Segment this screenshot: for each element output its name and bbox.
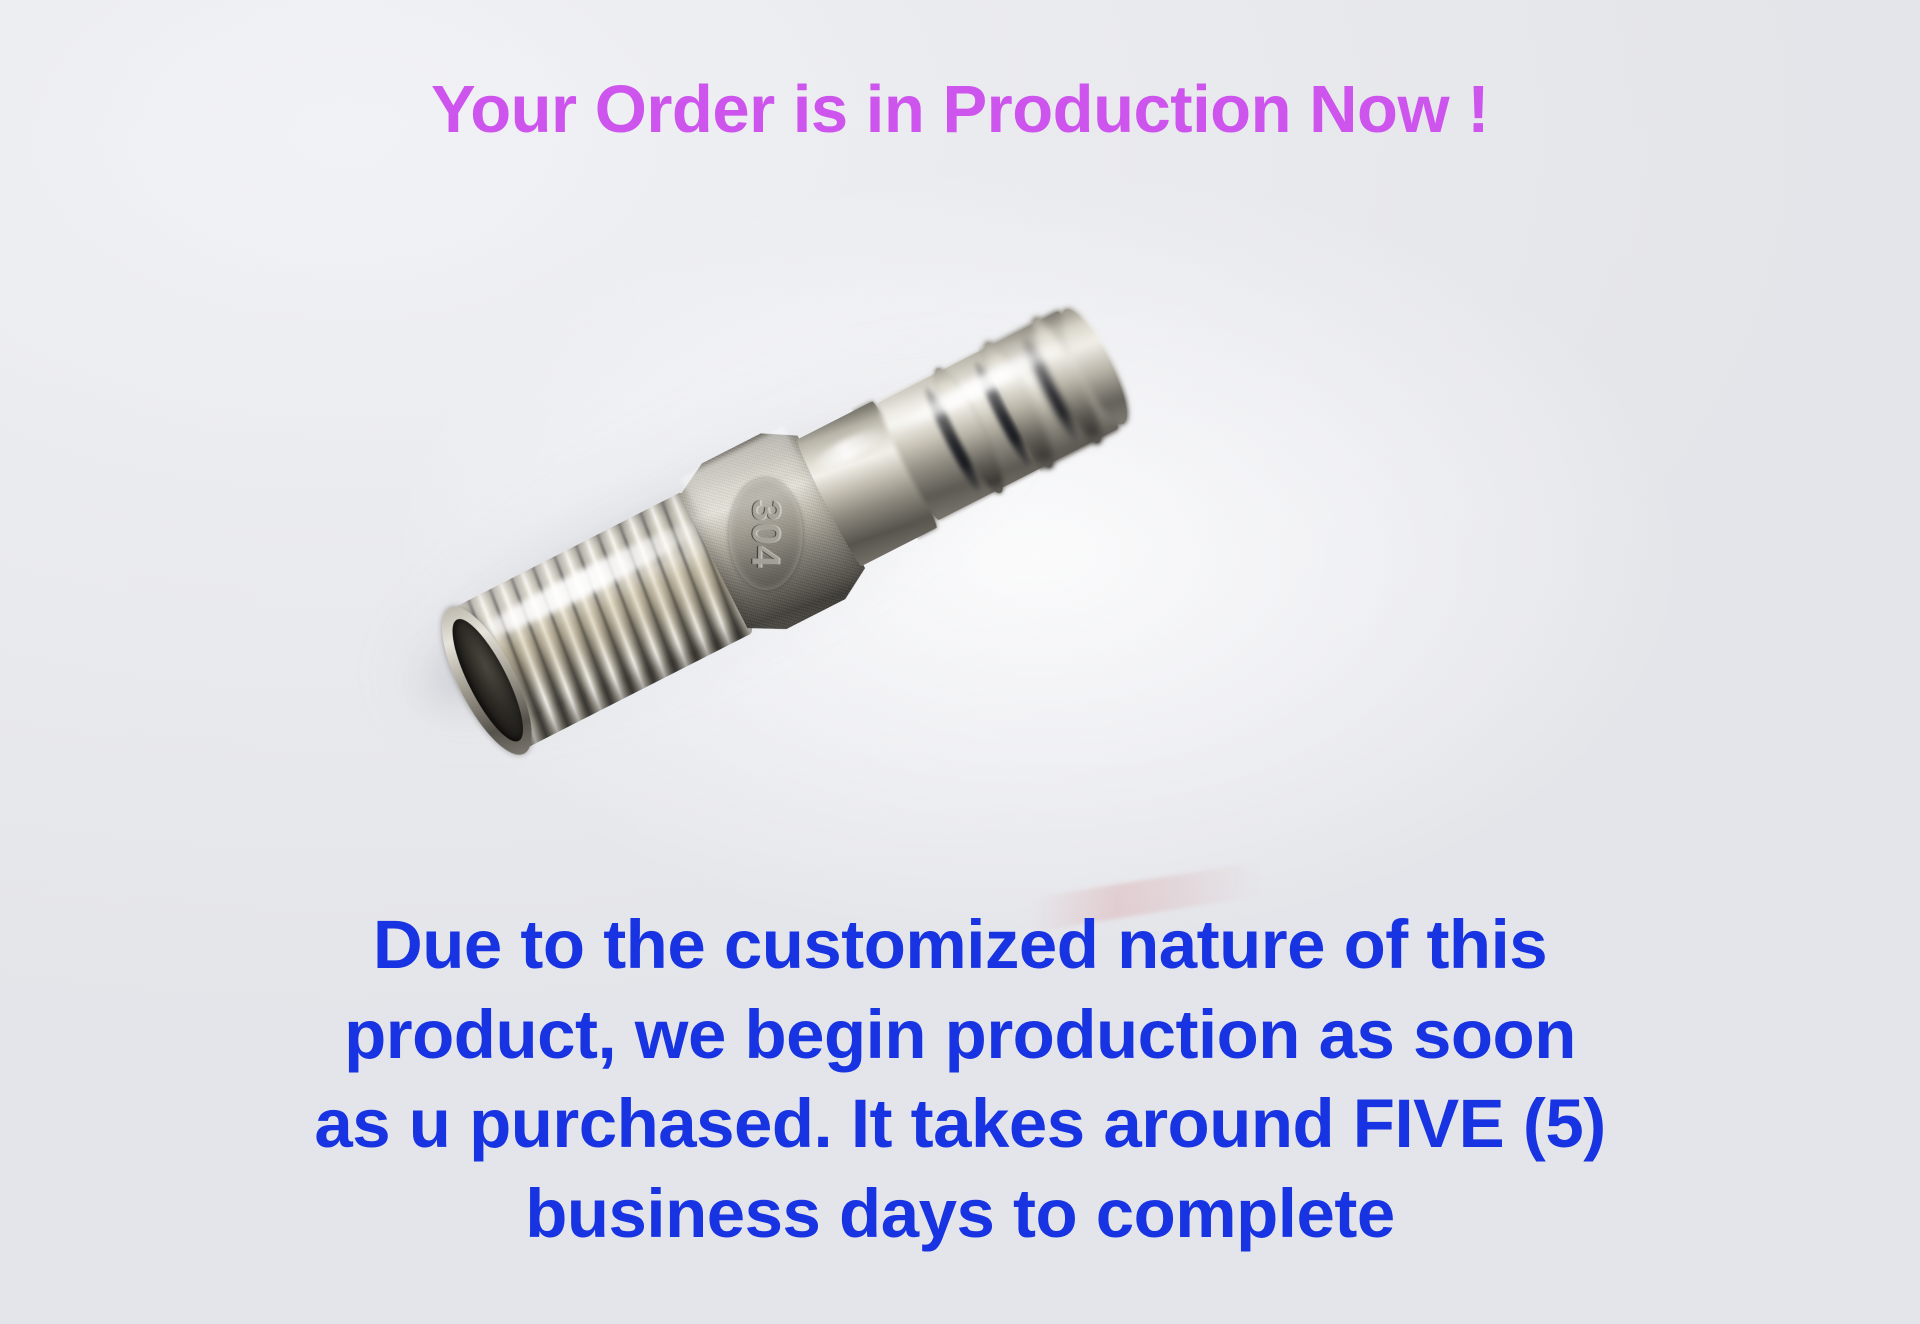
production-notice-line-3: as u purchased. It takes around FIVE (5): [110, 1079, 1810, 1169]
production-notice-line-2: product, we begin production as soon: [110, 990, 1810, 1080]
production-notice-text: Due to the customized nature of this pro…: [110, 900, 1810, 1259]
product-photo-stainless-hose-barb: 304: [470, 300, 1190, 770]
production-notice-line-4: business days to complete: [110, 1169, 1810, 1259]
production-notice-line-1: Due to the customized nature of this: [110, 900, 1810, 990]
headline-order-in-production: Your Order is in Production Now !: [0, 76, 1920, 143]
promo-image: 304 Your Order is in Production Now ! Du…: [0, 0, 1920, 1324]
